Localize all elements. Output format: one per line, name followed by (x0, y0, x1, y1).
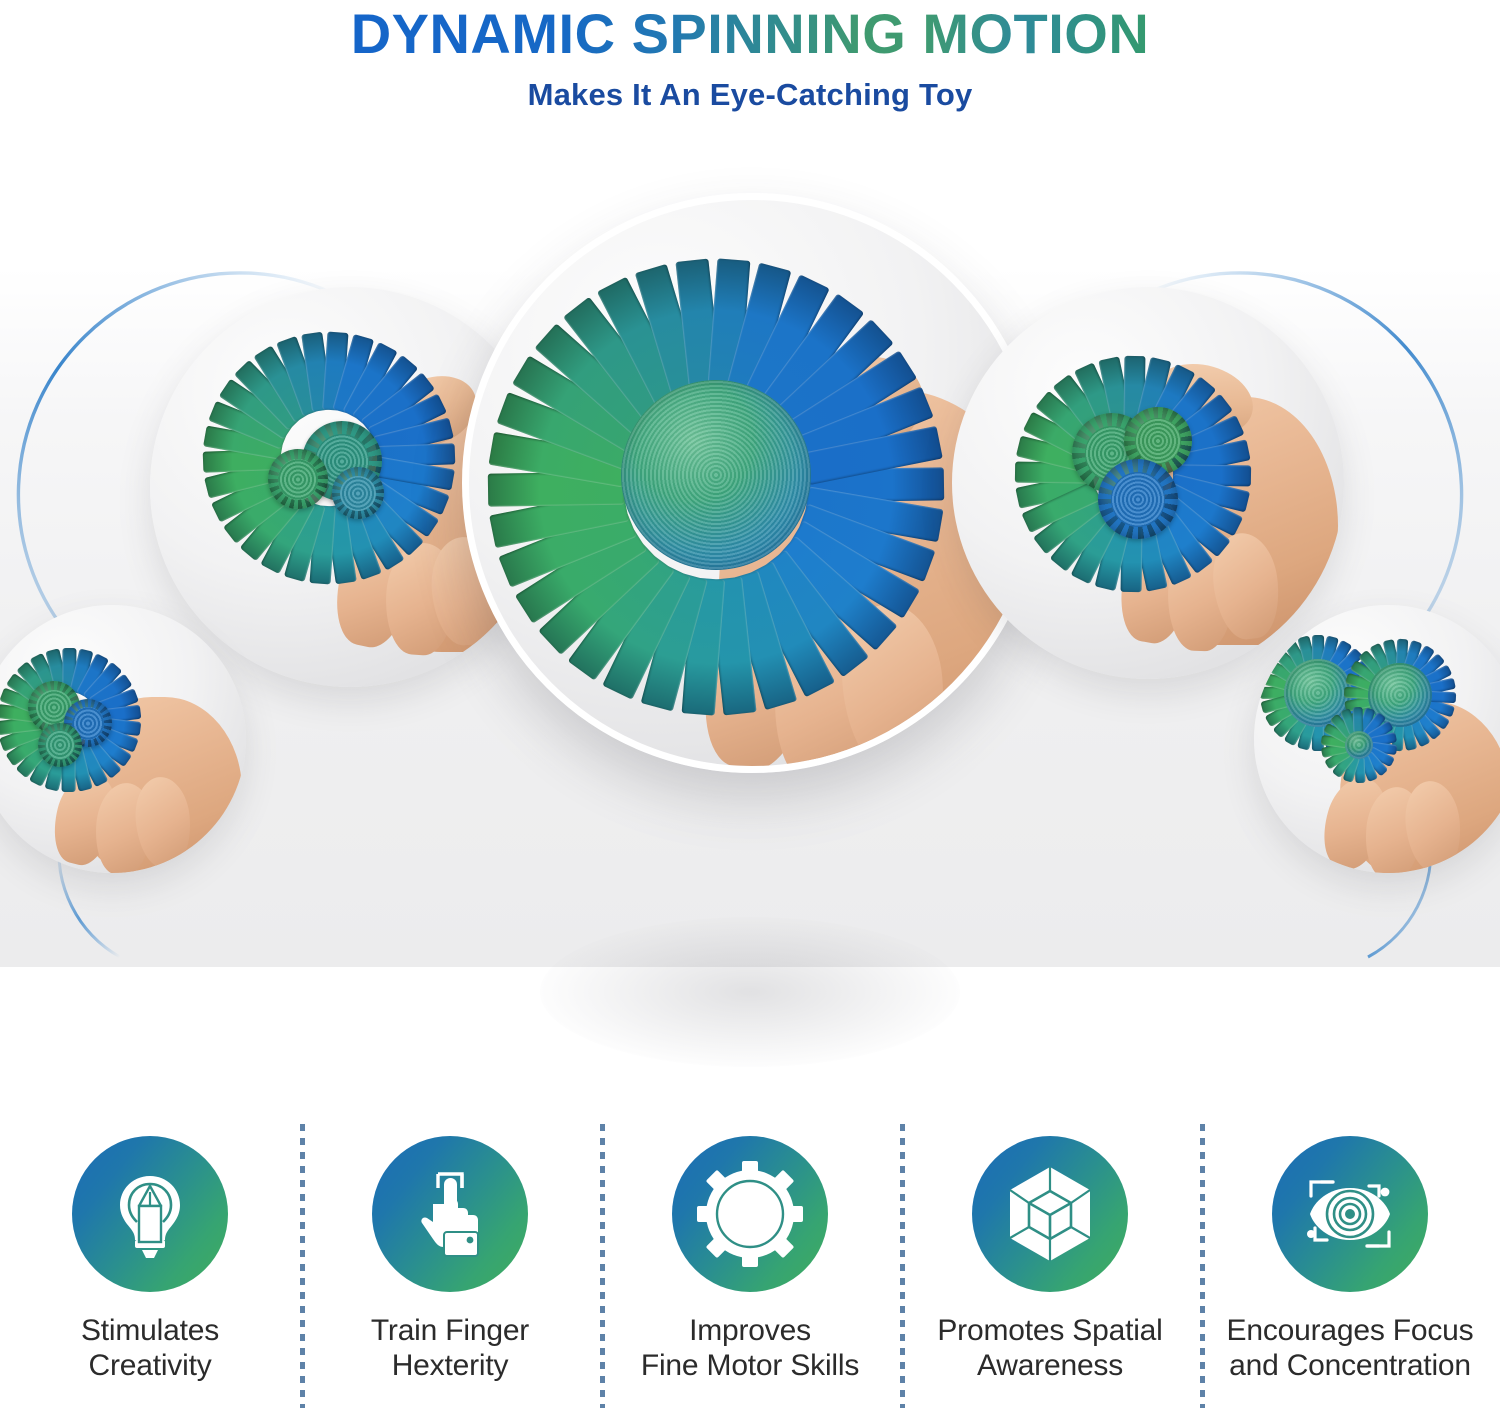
product-photo-left-small (0, 605, 246, 873)
feature-label: Encourages Focus and Concentration (1227, 1314, 1474, 1383)
feature-list: Stimulates Creativity Train Finger Hexte… (0, 1118, 1500, 1414)
gear-toy-hub (1345, 731, 1373, 759)
feature-label: Improves Fine Motor Skills (641, 1314, 859, 1383)
hand-touch-icon (372, 1136, 528, 1292)
gear-toy (1260, 633, 1460, 783)
feature-label: Train Finger Hexterity (371, 1314, 529, 1383)
product-photo-center-content (469, 200, 1035, 766)
gear-toy-small (1098, 459, 1178, 539)
feature-label: Promotes Spatial Awareness (937, 1314, 1162, 1383)
product-photo-right-small-content (1254, 605, 1500, 873)
page-title: DYNAMIC SPINNING MOTION (351, 4, 1150, 63)
eye-focus-icon (1272, 1136, 1428, 1292)
brain-gear-icon (672, 1136, 828, 1292)
center-shadow (540, 917, 960, 1067)
gear-toy-hub (621, 380, 811, 570)
gear-toy-small (332, 467, 384, 519)
feature-item-train-finger-dexterity[interactable]: Train Finger Hexterity (300, 1118, 600, 1383)
page-subtitle: Makes It An Eye-Catching Toy (0, 77, 1500, 113)
feature-item-promotes-spatial-awareness[interactable]: Promotes Spatial Awareness (900, 1118, 1200, 1383)
feature-label: Stimulates Creativity (81, 1314, 219, 1383)
feature-item-stimulates-creativity[interactable]: Stimulates Creativity (0, 1118, 300, 1383)
feature-item-encourages-focus[interactable]: Encourages Focus and Concentration (1200, 1118, 1500, 1383)
product-showcase (0, 137, 1500, 1037)
feature-item-improves-fine-motor-skills[interactable]: Improves Fine Motor Skills (600, 1118, 900, 1383)
gear-toy-small (268, 449, 328, 509)
product-photo-left-small-content (0, 605, 246, 873)
cube-hexagon-icon (972, 1136, 1128, 1292)
header: DYNAMIC SPINNING MOTION Makes It An Eye-… (0, 0, 1500, 113)
lightbulb-pencil-icon (72, 1136, 228, 1292)
product-photo-right-small (1254, 605, 1500, 873)
